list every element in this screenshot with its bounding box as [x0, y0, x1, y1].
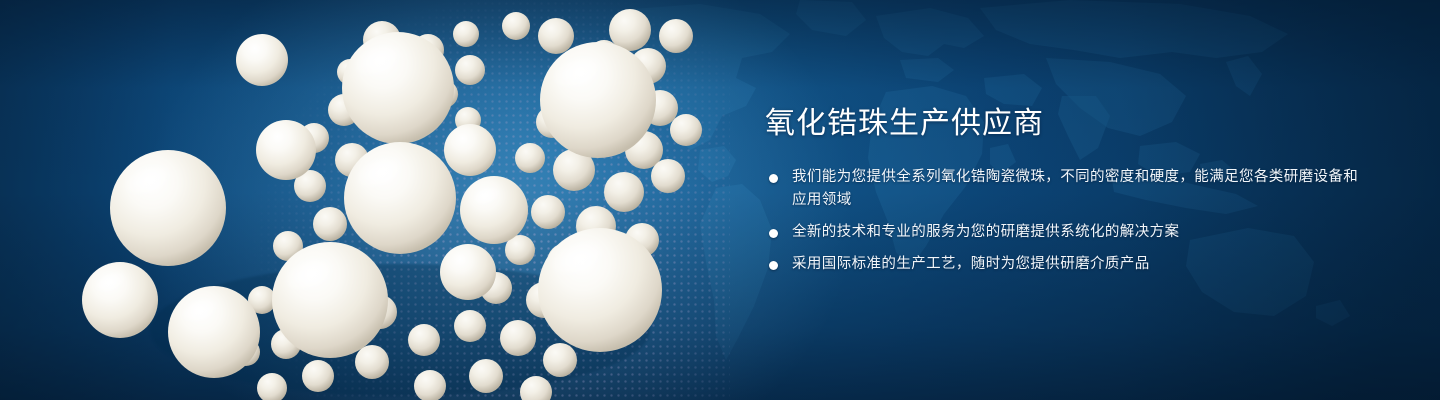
list-item-label: 我们能为您提供全系列氧化锆陶瓷微珠，不同的密度和硬度，能满足您各类研磨设备和应用… [792, 166, 1365, 212]
bullet-dot-icon [769, 229, 778, 238]
banner-copy: 氧化锆珠生产供应商 我们能为您提供全系列氧化锆陶瓷微珠，不同的密度和硬度，能满足… [765, 104, 1365, 276]
list-item: 全新的技术和专业的服务为您的研磨提供系统化的解决方案 [765, 221, 1365, 244]
list-item: 采用国际标准的生产工艺，随时为您提供研磨介质产品 [765, 253, 1365, 276]
page-title: 氧化锆珠生产供应商 [765, 104, 1365, 144]
bullet-dot-icon [769, 261, 778, 270]
feature-list: 我们能为您提供全系列氧化锆陶瓷微珠，不同的密度和硬度，能满足您各类研磨设备和应用… [765, 166, 1365, 276]
list-item-label: 全新的技术和专业的服务为您的研磨提供系统化的解决方案 [792, 221, 1365, 244]
list-item: 我们能为您提供全系列氧化锆陶瓷微珠，不同的密度和硬度，能满足您各类研磨设备和应用… [765, 166, 1365, 212]
hero-banner: 氧化锆珠生产供应商 我们能为您提供全系列氧化锆陶瓷微珠，不同的密度和硬度，能满足… [0, 0, 1440, 400]
bullet-dot-icon [769, 174, 778, 183]
zirconia-beads-photo [0, 0, 760, 400]
list-item-label: 采用国际标准的生产工艺，随时为您提供研磨介质产品 [792, 253, 1365, 276]
